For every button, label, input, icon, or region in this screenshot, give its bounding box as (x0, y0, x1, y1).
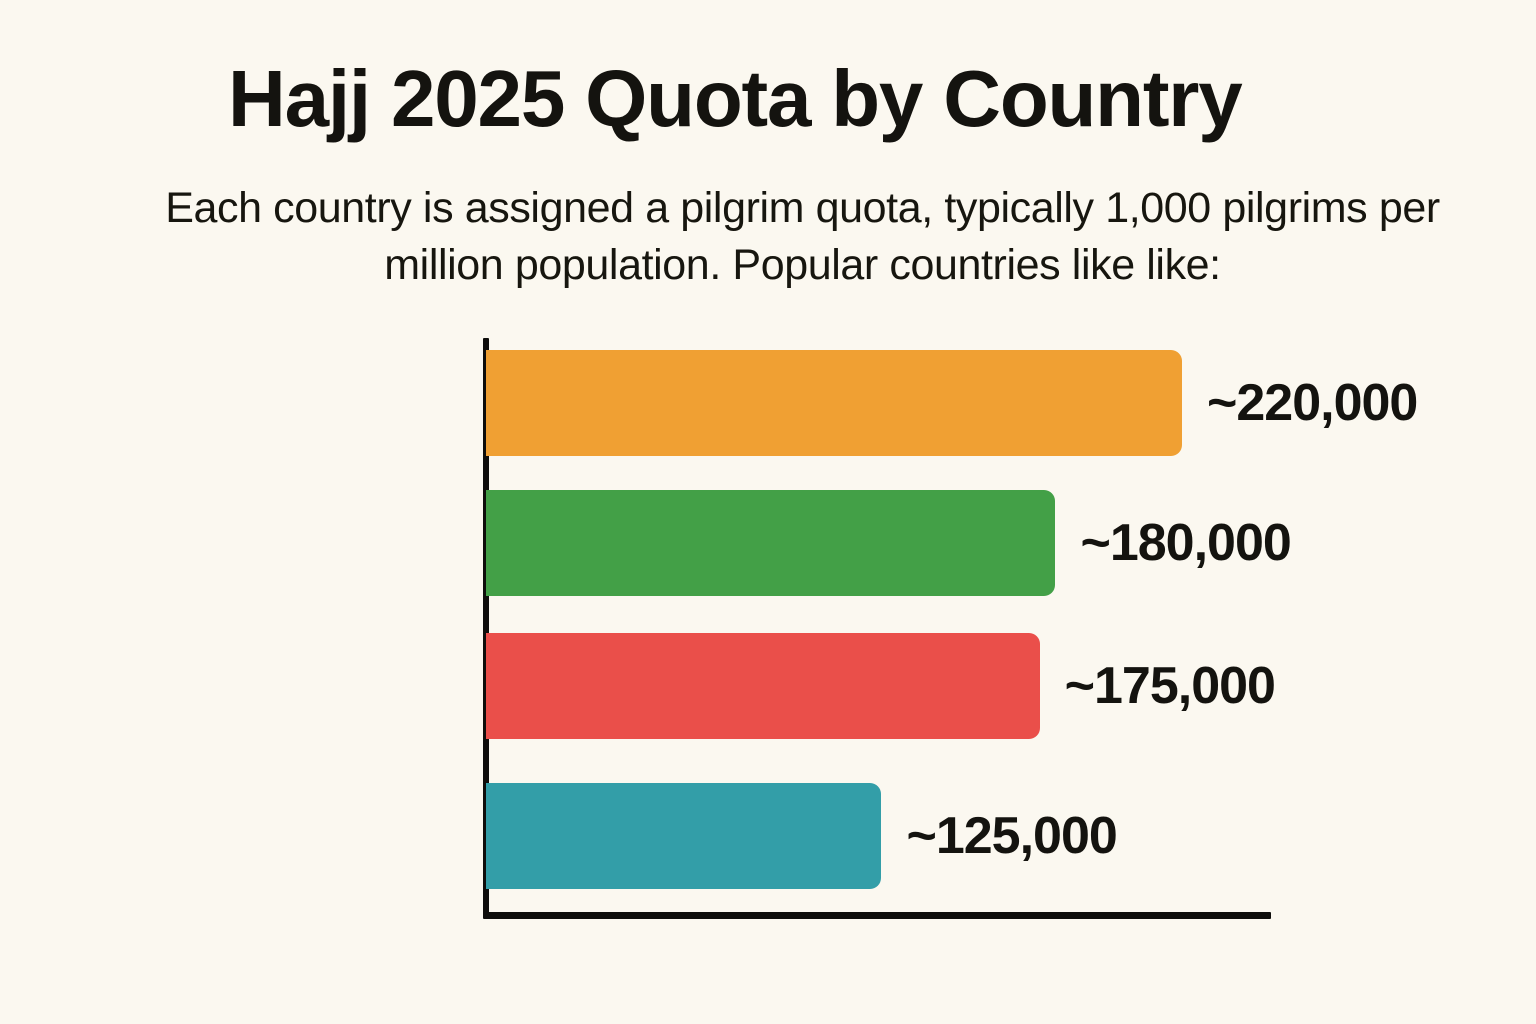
x-axis-line (483, 912, 1271, 919)
bar-value-label: ~125,000 (906, 806, 1116, 866)
bar-value-label: ~175,000 (1065, 656, 1275, 716)
bar-india[interactable] (486, 633, 1040, 739)
bar-pakistan[interactable] (486, 490, 1055, 596)
bar-value-label: ~180,000 (1080, 513, 1290, 573)
bar-value-label: ~220,000 (1207, 373, 1417, 433)
bar-bangladesh[interactable] (486, 783, 881, 889)
bar-indonesia[interactable] (486, 350, 1182, 456)
infographic-canvas: Hajj 2025 Quota by Country Each country … (0, 0, 1536, 1024)
bar-chart: Indonesia ~220,000 Pakistan ~180,000 Ind… (0, 0, 1536, 1024)
